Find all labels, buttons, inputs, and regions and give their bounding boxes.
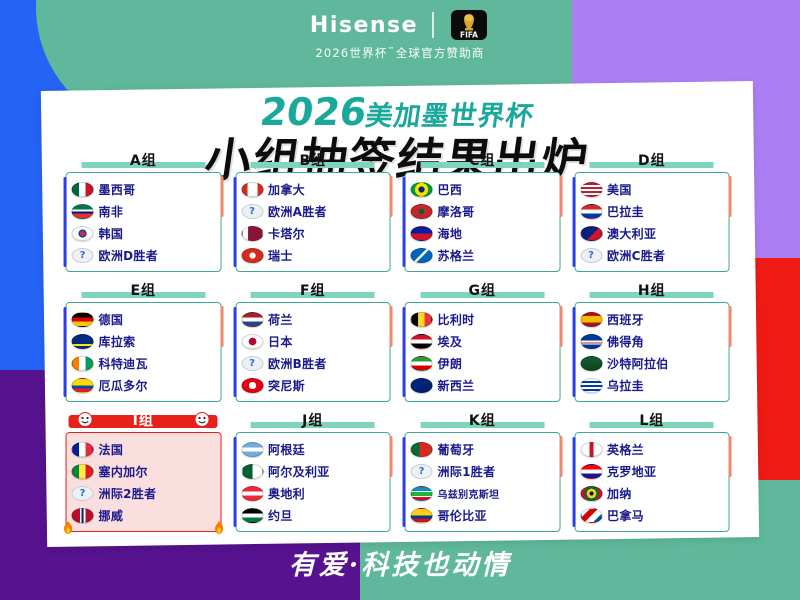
group-label: L组 <box>639 413 664 429</box>
group-header: D组 <box>574 150 730 170</box>
morocco-flag-icon <box>411 204 433 219</box>
team-name: 奥地利 <box>268 485 305 502</box>
brazil-flag-icon <box>411 182 433 197</box>
belgium-flag-icon <box>411 312 433 327</box>
team-row: 奥地利 <box>241 482 384 504</box>
group-team-list: 西班牙佛得角沙特阿拉伯乌拉圭 <box>574 302 730 402</box>
qatar-flag-icon <box>241 226 263 241</box>
ivory-coast-flag-icon <box>72 356 94 371</box>
team-row: ?欧洲B胜者 <box>241 352 384 374</box>
team-name: 伊朗 <box>438 355 463 372</box>
team-name: 佛得角 <box>607 333 644 350</box>
team-name: 美国 <box>607 181 632 198</box>
team-row: 挪威 <box>72 504 215 526</box>
team-row: 库拉索 <box>72 330 215 352</box>
group-label: J组 <box>302 413 323 429</box>
argentina-flag-icon <box>241 442 263 457</box>
team-name: 法国 <box>99 441 124 458</box>
group-team-list: 比利时埃及伊朗新西兰 <box>405 302 561 402</box>
team-row: 塞内加尔 <box>72 460 215 482</box>
group-team-list: 荷兰日本?欧洲B胜者突尼斯 <box>235 302 391 402</box>
team-row: 埃及 <box>411 330 554 352</box>
group-label: K组 <box>469 413 496 429</box>
group-label: B组 <box>299 153 326 169</box>
team-row: 卡塔尔 <box>241 222 384 244</box>
team-row: 哥伦比亚 <box>411 504 554 526</box>
team-row: 荷兰 <box>241 308 384 330</box>
team-row: 苏格兰 <box>411 244 554 266</box>
japan-flag-icon <box>241 334 263 349</box>
paraguay-flag-icon <box>580 204 602 219</box>
question-mark-icon: ? <box>72 248 94 263</box>
team-row: 西班牙 <box>580 308 723 330</box>
question-mark-icon: ? <box>411 464 433 479</box>
group-grid: A组墨西哥南非韩国?欧洲D胜者B组加拿大?欧洲A胜者卡塔尔瑞士C组巴西摩洛哥海地… <box>66 150 730 532</box>
group-team-list: 阿根廷阿尔及利亚奥地利约旦 <box>235 432 391 532</box>
team-name: 阿根廷 <box>268 441 305 458</box>
group-team-list: 葡萄牙?洲际1胜者乌兹别克斯坦哥伦比亚 <box>405 432 561 532</box>
saudi-arabia-flag-icon <box>580 356 602 371</box>
group-label: A组 <box>130 153 157 169</box>
team-row: 日本 <box>241 330 384 352</box>
group-card-B: B组加拿大?欧洲A胜者卡塔尔瑞士 <box>235 150 391 272</box>
team-name: 阿尔及利亚 <box>268 463 330 480</box>
group-header: C组 <box>405 150 561 170</box>
group-team-list: 法国塞内加尔?洲际2胜者挪威 <box>66 432 222 532</box>
tunisia-flag-icon <box>241 378 263 393</box>
team-row: 科特迪瓦 <box>72 352 215 374</box>
team-name: 欧洲C胜者 <box>607 247 665 264</box>
team-name: 加拿大 <box>268 181 305 198</box>
team-name: 墨西哥 <box>99 181 136 198</box>
group-label: F组 <box>300 283 326 299</box>
team-row: 佛得角 <box>580 330 723 352</box>
team-name: 埃及 <box>438 333 463 350</box>
team-row: 阿尔及利亚 <box>241 460 384 482</box>
team-name: 沙特阿拉伯 <box>607 355 669 372</box>
usa-flag-icon <box>580 182 602 197</box>
team-row: ?欧洲D胜者 <box>72 244 215 266</box>
team-row: ?欧洲A胜者 <box>241 200 384 222</box>
team-name: 欧洲D胜者 <box>99 247 158 264</box>
team-row: 厄瓜多尔 <box>72 374 215 396</box>
group-team-list: 美国巴拉圭澳大利亚?欧洲C胜者 <box>574 172 730 272</box>
team-row: 突尼斯 <box>241 374 384 396</box>
team-name: 澳大利亚 <box>607 225 656 242</box>
group-label: I组 <box>133 413 154 429</box>
team-name: 库拉索 <box>99 333 136 350</box>
france-flag-icon <box>72 442 94 457</box>
sponsor-subtitle-rest: 全球官方赞助商 <box>396 46 485 60</box>
fire-icon <box>211 520 226 539</box>
team-row: 摩洛哥 <box>411 200 554 222</box>
team-name: 卡塔尔 <box>268 225 305 242</box>
team-name: 南非 <box>99 203 124 220</box>
team-row: 加拿大 <box>241 178 384 200</box>
footer: 有爱·科技也动情 <box>0 543 800 582</box>
group-label: E组 <box>130 283 156 299</box>
south-korea-flag-icon <box>72 226 94 241</box>
trademark-symbol: ™ <box>388 46 396 54</box>
scotland-flag-icon <box>411 248 433 263</box>
canada-flag-icon <box>241 182 263 197</box>
jordan-flag-icon <box>241 508 263 523</box>
poster-sheet: 2026美加墨世界杯 小组抽签结果出炉 A组墨西哥南非韩国?欧洲D胜者B组加拿大… <box>41 81 759 547</box>
group-card-C: C组巴西摩洛哥海地苏格兰 <box>405 150 561 272</box>
team-name: 比利时 <box>438 311 475 328</box>
group-header: F组 <box>235 280 391 300</box>
team-name: 约旦 <box>268 507 293 524</box>
question-mark-icon: ? <box>241 356 263 371</box>
team-name: 乌兹别克斯坦 <box>438 486 500 501</box>
team-row: 阿根廷 <box>241 438 384 460</box>
team-row: 海地 <box>411 222 554 244</box>
group-label: C组 <box>469 153 495 169</box>
team-row: 新西兰 <box>411 374 554 396</box>
team-name: 摩洛哥 <box>438 203 475 220</box>
team-name: 日本 <box>268 333 293 350</box>
team-row: 英格兰 <box>580 438 723 460</box>
vertical-divider-icon <box>432 12 434 38</box>
team-name: 德国 <box>99 311 124 328</box>
team-row: 乌拉圭 <box>580 374 723 396</box>
team-name: 巴拉圭 <box>607 203 644 220</box>
team-name: 厄瓜多尔 <box>99 377 148 394</box>
brand-header: Hisense FIFA 2026世界杯™全球官方赞助商 <box>0 8 800 61</box>
group-card-I: I组法国塞内加尔?洲际2胜者挪威 <box>66 410 222 532</box>
group-card-H: H组西班牙佛得角沙特阿拉伯乌拉圭 <box>574 280 730 402</box>
team-name: 克罗地亚 <box>607 463 656 480</box>
team-name: 荷兰 <box>268 311 293 328</box>
team-row: 比利时 <box>411 308 554 330</box>
switzerland-flag-icon <box>241 248 263 263</box>
sponsor-subtitle: 2026世界杯™全球官方赞助商 <box>0 45 800 61</box>
team-name: 欧洲B胜者 <box>268 355 327 372</box>
team-name: 突尼斯 <box>268 377 305 394</box>
senegal-flag-icon <box>72 464 94 479</box>
egypt-flag-icon <box>411 334 433 349</box>
team-row: 墨西哥 <box>72 178 215 200</box>
team-name: 加纳 <box>607 485 632 502</box>
team-row: 沙特阿拉伯 <box>580 352 723 374</box>
group-header: L组 <box>574 410 730 430</box>
svg-text:FIFA: FIFA <box>460 31 478 40</box>
fire-icon <box>61 520 76 539</box>
team-name: 洲际1胜者 <box>438 463 496 480</box>
netherlands-flag-icon <box>241 312 263 327</box>
team-row: 韩国 <box>72 222 215 244</box>
group-card-J: J组阿根廷阿尔及利亚奥地利约旦 <box>235 410 391 532</box>
south-africa-flag-icon <box>72 204 94 219</box>
group-team-list: 墨西哥南非韩国?欧洲D胜者 <box>66 172 222 272</box>
algeria-flag-icon <box>241 464 263 479</box>
team-row: ?洲际1胜者 <box>411 460 554 482</box>
sponsor-subtitle-main: 2026世界杯 <box>315 46 387 60</box>
group-card-L: L组英格兰克罗地亚加纳巴拿马 <box>574 410 730 532</box>
team-row: 葡萄牙 <box>411 438 554 460</box>
group-label: H组 <box>638 283 666 299</box>
team-name: 挪威 <box>99 507 124 524</box>
haiti-flag-icon <box>411 226 433 241</box>
australia-flag-icon <box>580 226 602 241</box>
team-name: 欧洲A胜者 <box>268 203 327 220</box>
team-name: 瑞士 <box>268 247 293 264</box>
group-header: G组 <box>405 280 561 300</box>
team-name: 韩国 <box>99 225 124 242</box>
group-label: G组 <box>469 283 497 299</box>
group-card-E: E组德国库拉索科特迪瓦厄瓜多尔 <box>66 280 222 402</box>
uruguay-flag-icon <box>580 378 602 393</box>
group-team-list: 英格兰克罗地亚加纳巴拿马 <box>574 432 730 532</box>
new-zealand-flag-icon <box>411 378 433 393</box>
team-row: 加纳 <box>580 482 723 504</box>
group-header: A组 <box>66 150 222 170</box>
team-row: ?洲际2胜者 <box>72 482 215 504</box>
team-row: 美国 <box>580 178 723 200</box>
croatia-flag-icon <box>580 464 602 479</box>
group-card-A: A组墨西哥南非韩国?欧洲D胜者 <box>66 150 222 272</box>
question-mark-icon: ? <box>241 204 263 219</box>
team-row: 巴拿马 <box>580 504 723 526</box>
team-name: 新西兰 <box>438 377 475 394</box>
iran-flag-icon <box>411 356 433 371</box>
group-team-list: 加拿大?欧洲A胜者卡塔尔瑞士 <box>235 172 391 272</box>
group-team-list: 巴西摩洛哥海地苏格兰 <box>405 172 561 272</box>
curacao-flag-icon <box>72 334 94 349</box>
team-row: 约旦 <box>241 504 384 526</box>
team-name: 葡萄牙 <box>438 441 475 458</box>
team-name: 海地 <box>438 225 463 242</box>
group-card-K: K组葡萄牙?洲际1胜者乌兹别克斯坦哥伦比亚 <box>405 410 561 532</box>
team-row: 瑞士 <box>241 244 384 266</box>
group-team-list: 德国库拉索科特迪瓦厄瓜多尔 <box>66 302 222 402</box>
group-header: B组 <box>235 150 391 170</box>
group-header: H组 <box>574 280 730 300</box>
group-header: J组 <box>235 410 391 430</box>
england-flag-icon <box>580 442 602 457</box>
team-name: 哥伦比亚 <box>438 507 487 524</box>
group-header: I组 <box>66 410 222 430</box>
group-label: D组 <box>638 153 666 169</box>
question-mark-icon: ? <box>72 486 94 501</box>
team-name: 英格兰 <box>607 441 644 458</box>
austria-flag-icon <box>241 486 263 501</box>
team-row: 法国 <box>72 438 215 460</box>
team-name: 科特迪瓦 <box>99 355 148 372</box>
team-row: 德国 <box>72 308 215 330</box>
group-card-D: D组美国巴拉圭澳大利亚?欧洲C胜者 <box>574 150 730 272</box>
poster-content: 2026美加墨世界杯 小组抽签结果出炉 A组墨西哥南非韩国?欧洲D胜者B组加拿大… <box>42 86 754 190</box>
team-name: 塞内加尔 <box>99 463 148 480</box>
team-name: 乌拉圭 <box>607 377 644 394</box>
colombia-flag-icon <box>411 508 433 523</box>
team-name: 苏格兰 <box>438 247 475 264</box>
ecuador-flag-icon <box>72 378 94 393</box>
spain-flag-icon <box>580 312 602 327</box>
cape-verde-flag-icon <box>580 334 602 349</box>
team-name: 巴拿马 <box>607 507 644 524</box>
group-card-F: F组荷兰日本?欧洲B胜者突尼斯 <box>235 280 391 402</box>
panama-flag-icon <box>580 508 602 523</box>
germany-flag-icon <box>72 312 94 327</box>
uzbekistan-flag-icon <box>411 486 433 501</box>
footer-slogan: 有爱·科技也动情 <box>289 550 511 581</box>
team-row: 克罗地亚 <box>580 460 723 482</box>
team-row: 伊朗 <box>411 352 554 374</box>
brand-row: Hisense FIFA <box>0 8 800 42</box>
team-row: 巴西 <box>411 178 554 200</box>
team-name: 西班牙 <box>607 311 644 328</box>
hisense-logo: Hisense <box>310 13 418 38</box>
team-row: 乌兹别克斯坦 <box>411 482 554 504</box>
emoji-face-icon <box>194 412 209 427</box>
fifa-world-cup-trophy-icon: FIFA <box>448 8 490 42</box>
question-mark-icon: ? <box>580 248 602 263</box>
ghana-flag-icon <box>580 486 602 501</box>
group-card-G: G组比利时埃及伊朗新西兰 <box>405 280 561 402</box>
mexico-flag-icon <box>72 182 94 197</box>
team-row: 南非 <box>72 200 215 222</box>
emoji-face-icon <box>78 412 93 427</box>
team-name: 巴西 <box>438 181 463 198</box>
team-row: 巴拉圭 <box>580 200 723 222</box>
portugal-flag-icon <box>411 442 433 457</box>
team-row: ?欧洲C胜者 <box>580 244 723 266</box>
group-header: E组 <box>66 280 222 300</box>
group-header: K组 <box>405 410 561 430</box>
team-row: 澳大利亚 <box>580 222 723 244</box>
team-name: 洲际2胜者 <box>99 485 157 502</box>
